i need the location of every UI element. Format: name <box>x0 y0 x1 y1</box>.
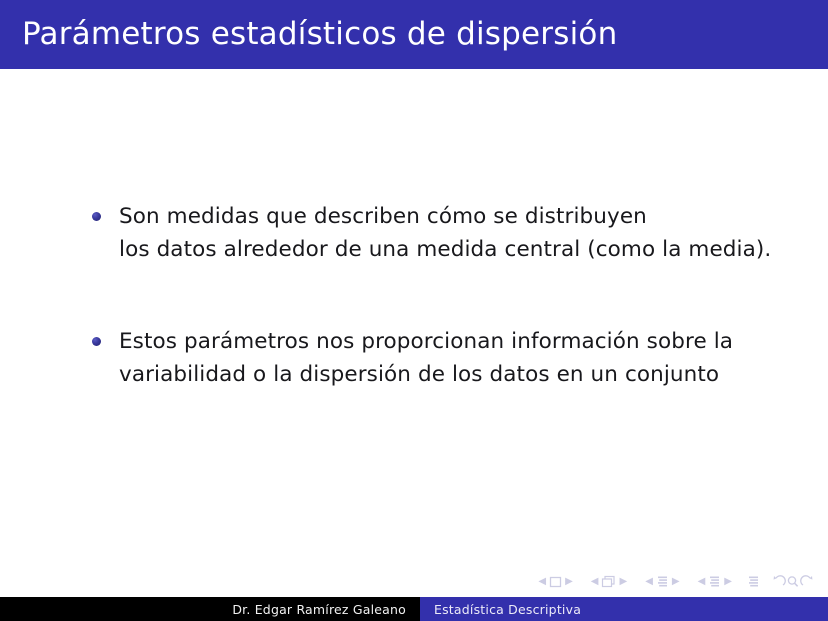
back-icon[interactable] <box>772 573 786 592</box>
slide-icon[interactable] <box>549 573 562 592</box>
list-item-line: variabilidad o la dispersión de los dato… <box>119 358 788 391</box>
previous-section-arrow-icon[interactable]: ◀ <box>695 577 709 587</box>
search-icon[interactable] <box>786 573 800 592</box>
footer-author-section: Dr. Edgar Ramírez Galeano <box>0 597 420 621</box>
slide-content: Son medidas que describen cómo se distri… <box>0 69 828 569</box>
list-item-line: Son medidas que describen cómo se distri… <box>119 200 788 233</box>
footer-title-section: Estadística Descriptiva <box>420 597 828 621</box>
slide-title-bar: Parámetros estadísticos de dispersión <box>0 0 828 69</box>
list-item-line: los datos alrededor de una medida centra… <box>119 233 788 266</box>
section-navigation-group[interactable]: ◀ ▶ <box>695 573 735 592</box>
document-icon[interactable] <box>747 573 760 592</box>
slide-footer: Dr. Edgar Ramírez Galeano Estadística De… <box>0 597 828 621</box>
document-navigation-group[interactable] <box>747 573 760 592</box>
list-item-line: Estos parámetros nos proporcionan inform… <box>119 325 788 358</box>
footer-presentation-title: Estadística Descriptiva <box>434 602 581 617</box>
subsection-icon[interactable] <box>656 573 669 592</box>
list-item-text: Estos parámetros nos proporcionan inform… <box>119 325 788 391</box>
presentation-slide: Parámetros estadísticos de dispersión So… <box>0 0 828 621</box>
previous-subsection-arrow-icon[interactable]: ◀ <box>642 577 656 587</box>
next-slide-arrow-icon[interactable]: ▶ <box>562 577 576 587</box>
frame-navigation-group[interactable]: ◀ ▶ <box>588 573 630 592</box>
next-subsection-arrow-icon[interactable]: ▶ <box>669 577 683 587</box>
subsection-navigation-group[interactable]: ◀ ▶ <box>642 573 682 592</box>
forward-icon[interactable] <box>800 573 814 592</box>
section-icon[interactable] <box>708 573 721 592</box>
next-frame-arrow-icon[interactable]: ▶ <box>616 577 630 587</box>
previous-slide-arrow-icon[interactable]: ◀ <box>535 577 549 587</box>
list-item: Estos parámetros nos proporcionan inform… <box>88 325 788 391</box>
frame-icon[interactable] <box>601 573 616 592</box>
history-navigation-group[interactable] <box>772 573 814 592</box>
beamer-navigation-symbols[interactable]: ◀ ▶ ◀ ▶ ◀ <box>535 571 818 593</box>
page-title: Parámetros estadísticos de dispersión <box>0 19 617 50</box>
list-item: Son medidas que describen cómo se distri… <box>88 200 788 266</box>
bullet-point-icon <box>92 212 101 221</box>
bullet-point-icon <box>92 337 101 346</box>
list-item-text: Son medidas que describen cómo se distri… <box>119 200 788 266</box>
bullet-list: Son medidas que describen cómo se distri… <box>88 200 788 391</box>
slide-navigation-group[interactable]: ◀ ▶ <box>535 573 575 592</box>
previous-frame-arrow-icon[interactable]: ◀ <box>588 577 602 587</box>
footer-author-text: Dr. Edgar Ramírez Galeano <box>232 602 406 617</box>
next-section-arrow-icon[interactable]: ▶ <box>721 577 735 587</box>
